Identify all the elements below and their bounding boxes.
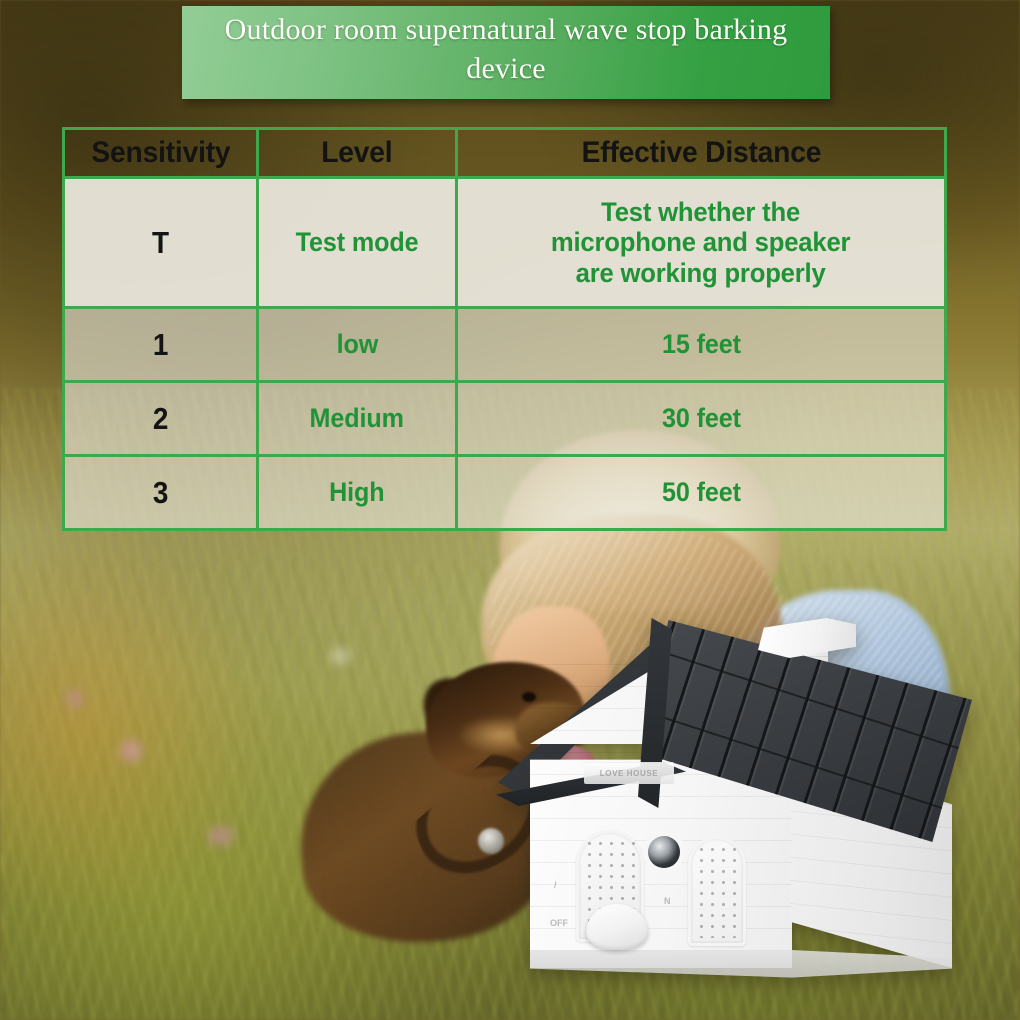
table-row: 1 low 15 feet	[64, 308, 946, 382]
column-header-sensitivity: Sensitivity	[64, 129, 258, 178]
level-value: low	[336, 329, 378, 360]
cell-effective-distance: 30 feet	[457, 382, 946, 456]
cell-sensitivity: T	[64, 178, 258, 308]
sensitivity-value: 2	[153, 401, 169, 437]
product-image-bark-control-device: LOVE HOUSE / OFF N	[492, 612, 992, 1002]
column-header-level: Level	[258, 129, 457, 178]
device-base	[530, 950, 952, 980]
device-switch-on-mark: /	[554, 880, 557, 890]
device-led-sensor-icon	[648, 836, 680, 868]
table-header-row: Sensitivity Level Effective Distance	[64, 129, 946, 178]
effective-distance-value: 15 feet	[662, 329, 741, 360]
device-embossed-brand-label: LOVE HOUSE	[584, 762, 674, 784]
infographic-canvas: LOVE HOUSE / OFF N Outdoor room supernat…	[0, 0, 1020, 1020]
effective-distance-value: 30 feet	[662, 403, 741, 434]
sensitivity-value: 3	[153, 475, 169, 511]
effective-distance-line-1: Test whether the	[602, 197, 801, 227]
photo-sun-glow	[0, 530, 265, 918]
page-title: Outdoor room supernatural wave stop bark…	[210, 11, 802, 88]
cell-effective-distance: 50 feet	[457, 456, 946, 530]
effective-distance-line-3: are working properly	[576, 258, 826, 288]
device-side-mark: N	[664, 896, 671, 906]
device-microphone-grille-dots	[696, 844, 738, 938]
device-switch-off-mark: OFF	[550, 918, 568, 928]
column-header-effective-distance: Effective Distance	[457, 129, 946, 178]
effective-distance-value: Test whether the microphone and speaker …	[551, 197, 850, 288]
column-header-sensitivity-label: Sensitivity	[91, 136, 230, 170]
cell-level: High	[258, 456, 457, 530]
table-row: 2 Medium 30 feet	[64, 382, 946, 456]
sensitivity-value: 1	[153, 327, 169, 363]
cell-sensitivity: 2	[64, 382, 258, 456]
level-value: High	[329, 477, 384, 508]
level-value: Test mode	[296, 227, 419, 258]
effective-distance-line-2: microphone and speaker	[551, 227, 850, 257]
column-header-effective-distance-label: Effective Distance	[581, 136, 821, 170]
cell-sensitivity: 1	[64, 308, 258, 382]
title-banner: Outdoor room supernatural wave stop bark…	[182, 6, 830, 99]
specification-table: Sensitivity Level Effective Distance T T…	[62, 127, 947, 531]
device-microphone-grille	[688, 836, 746, 946]
cell-sensitivity: 3	[64, 456, 258, 530]
cell-level: Test mode	[258, 178, 457, 308]
sensitivity-value: T	[152, 225, 169, 261]
table-row: 3 High 50 feet	[64, 456, 946, 530]
effective-distance-value: 50 feet	[662, 477, 741, 508]
level-value: Medium	[310, 403, 404, 434]
device-chimney-cap	[758, 618, 856, 658]
cell-effective-distance: 15 feet	[457, 308, 946, 382]
table-row: T Test mode Test whether the microphone …	[64, 178, 946, 308]
cell-level: low	[258, 308, 457, 382]
cell-effective-distance: Test whether the microphone and speaker …	[457, 178, 946, 308]
column-header-level-label: Level	[321, 136, 392, 170]
cell-level: Medium	[258, 382, 457, 456]
